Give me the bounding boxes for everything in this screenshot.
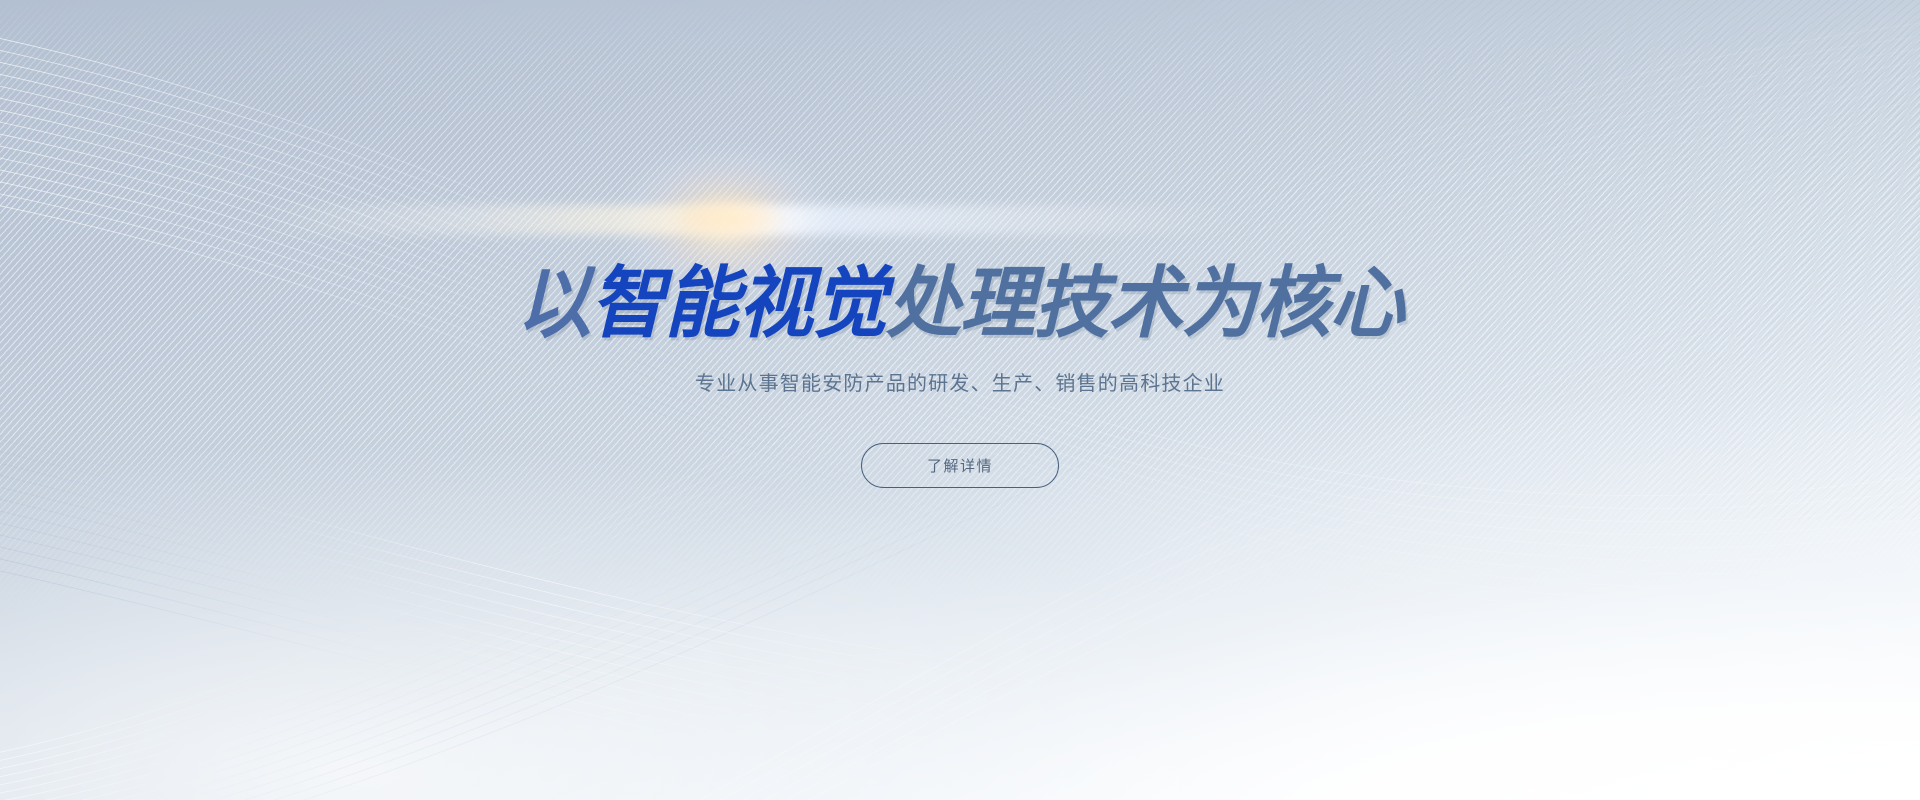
page-title: 以智能视觉处理技术为核心 xyxy=(516,262,1403,344)
headline-segment-2: 智能视觉 xyxy=(590,259,886,347)
learn-more-button[interactable]: 了解详情 xyxy=(861,443,1059,488)
hero-banner: 以智能视觉处理技术为核心 专业从事智能安防产品的研发、生产、销售的高科技企业 了… xyxy=(0,0,1920,800)
page-subtitle: 专业从事智能安防产品的研发、生产、销售的高科技企业 xyxy=(695,370,1225,398)
hero-content: 以智能视觉处理技术为核心 专业从事智能安防产品的研发、生产、销售的高科技企业 了… xyxy=(0,0,1920,800)
headline-segment-3: 处理技术为核心 xyxy=(886,259,1403,347)
headline-segment-1: 以 xyxy=(516,259,590,347)
